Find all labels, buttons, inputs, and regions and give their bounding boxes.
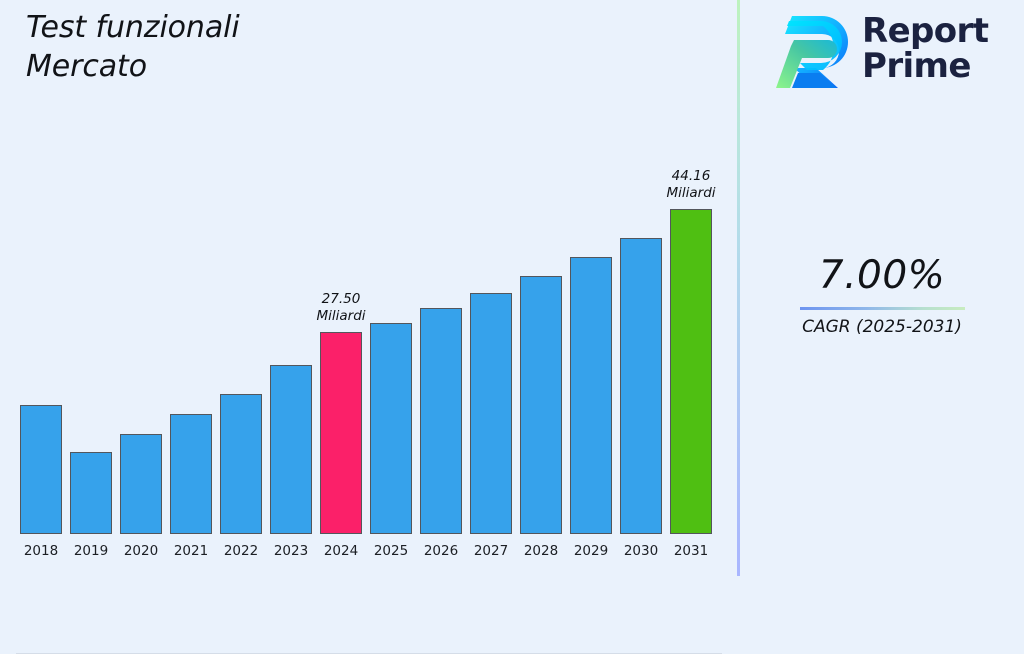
bar-2020[interactable]: [120, 434, 162, 534]
brand-wordmark: Report Prime: [862, 14, 988, 84]
x-tick-label-2022: 2022: [213, 543, 269, 559]
bar-2024[interactable]: [320, 332, 362, 534]
bar-2027[interactable]: [470, 293, 512, 534]
cagr-divider: [800, 307, 965, 310]
x-tick-label-2020: 2020: [113, 543, 169, 559]
bar-2019[interactable]: [70, 452, 112, 534]
x-tick-label-2021: 2021: [163, 543, 219, 559]
x-tick-label-2028: 2028: [513, 543, 569, 559]
bar-group-2028: 2028: [516, 1, 566, 534]
bar-group-2022: 2022: [216, 1, 266, 534]
bar-2023[interactable]: [270, 365, 312, 534]
bar-2028[interactable]: [520, 276, 562, 534]
bar-group-2021: 2021: [166, 1, 216, 534]
x-tick-label-2030: 2030: [613, 543, 669, 559]
x-tick-label-2025: 2025: [363, 543, 419, 559]
bar-group-2023: 2023: [266, 1, 316, 534]
bar-chart-plot-area: 20182019202020212022202327.50 Miliardi20…: [0, 120, 738, 534]
bar-value-label-2031: 44.16 Miliardi: [652, 168, 730, 202]
bar-group-2029: 2029: [566, 1, 616, 534]
report-prime-r-logo-icon: [776, 10, 850, 88]
bar-group-2030: 2030: [616, 1, 666, 534]
cagr-value: 7.00%: [740, 252, 1024, 300]
x-tick-label-2023: 2023: [263, 543, 319, 559]
bar-2031[interactable]: [670, 209, 712, 534]
infographic-root: Test funzionali Mercato 2018201920202021…: [0, 0, 1024, 576]
bar-group-2018: 2018: [16, 1, 66, 534]
x-tick-label-2024: 2024: [313, 543, 369, 559]
x-tick-label-2031: 2031: [663, 543, 719, 559]
bar-group-2019: 2019: [66, 1, 116, 534]
bar-2018[interactable]: [20, 405, 62, 534]
bar-2026[interactable]: [420, 308, 462, 534]
bar-2030[interactable]: [620, 238, 662, 534]
bar-2029[interactable]: [570, 257, 612, 534]
x-tick-label-2018: 2018: [13, 543, 69, 559]
bar-group-2024: 27.50 Miliardi2024: [316, 1, 366, 534]
bar-group-2025: 2025: [366, 1, 416, 534]
brand-panel: Report Prime 7.00% CAGR (2025-2031): [740, 0, 1024, 576]
bar-2025[interactable]: [370, 323, 412, 534]
bar-group-2026: 2026: [416, 1, 466, 534]
x-tick-label-2026: 2026: [413, 543, 469, 559]
cagr-block: 7.00% CAGR (2025-2031): [740, 252, 1024, 338]
x-tick-label-2029: 2029: [563, 543, 619, 559]
bar-2022[interactable]: [220, 394, 262, 534]
x-tick-label-2019: 2019: [63, 543, 119, 559]
chart-panel: Test funzionali Mercato 2018201920202021…: [0, 0, 738, 576]
bar-group-2031: 44.16 Miliardi2031: [666, 1, 716, 534]
bar-group-2020: 2020: [116, 1, 166, 534]
cagr-caption: CAGR (2025-2031): [740, 316, 1024, 338]
x-tick-label-2027: 2027: [463, 543, 519, 559]
brand-logo: Report Prime: [776, 10, 988, 88]
bar-2021[interactable]: [170, 414, 212, 534]
bar-group-2027: 2027: [466, 1, 516, 534]
